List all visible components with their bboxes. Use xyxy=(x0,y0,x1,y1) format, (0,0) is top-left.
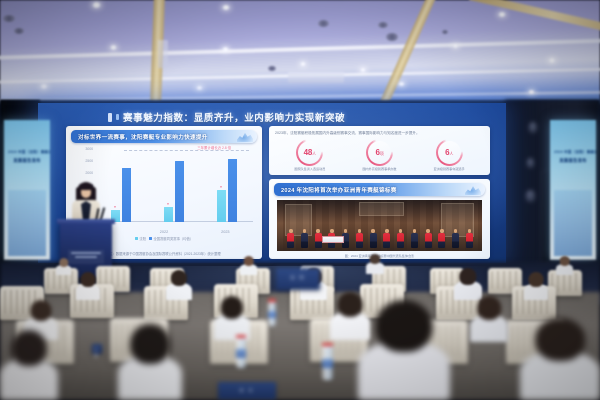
ceiling-downlight-icon xyxy=(452,44,459,48)
stat-ring-value: 48人 xyxy=(304,148,316,157)
chart-bar-group: ▼ xyxy=(111,168,131,222)
ceiling-sensor-icon xyxy=(268,66,276,71)
stat-ring-gauge: 6人 xyxy=(436,139,463,166)
audience-member xyxy=(166,270,192,300)
chart-bar xyxy=(122,168,131,222)
photo-athlete xyxy=(370,229,377,248)
chart-panel-ribbon: 对标世界一流赛事，沈阳赛艇专业影响力快速提升 xyxy=(71,130,257,143)
chart-bar xyxy=(228,159,237,222)
photo-card: 2024 年沈阳将首次举办亚洲青年赛艇锦标赛 图：2024 亚洲青年赛艇锦标赛中… xyxy=(269,179,490,259)
photo-athlete-body xyxy=(301,233,308,248)
ceiling-speaker-icon xyxy=(318,20,329,27)
audience-member-head xyxy=(221,296,243,319)
audience-member-head xyxy=(81,272,96,287)
photo-athlete-head xyxy=(468,229,472,233)
audience-member xyxy=(524,272,548,300)
photo-athlete-body xyxy=(315,233,322,248)
photo-athlete-body xyxy=(383,233,390,248)
audience-member-head xyxy=(59,258,68,267)
photo-athlete xyxy=(356,229,363,248)
stat-ring-gauge: 6项 xyxy=(366,139,393,166)
stat-ring-gauge: 48人 xyxy=(296,139,323,166)
stat-ring-item: 48人国家队集训入选运动员 xyxy=(281,139,339,171)
audience-member-head xyxy=(30,300,51,321)
stat-ring-caption: 国家队集训入选运动员 xyxy=(281,167,339,171)
chart-bar: ▼ xyxy=(164,207,173,222)
stats-lead-text: 2023年，沈阳赛艇积极拓展国内外高级别赛事交流，赛事国际影响力与知名度进一步提… xyxy=(275,131,484,136)
audience-member-head xyxy=(535,318,585,361)
audience-member xyxy=(470,296,508,342)
side-banner-left: 2024 中国（沈阳）赛艇运动 发展报告发布 xyxy=(4,120,50,260)
water-bottle-cap xyxy=(236,335,246,338)
photo-athlete xyxy=(466,229,473,248)
audience-member-head xyxy=(171,270,187,286)
stat-ring-caption: 国内外高级别赛事承办数 xyxy=(350,167,408,171)
name-placard-text: 王 强 xyxy=(92,347,102,359)
ceiling-downlight-icon xyxy=(196,86,203,90)
audience-member xyxy=(56,258,71,275)
chart-bar: ▼ xyxy=(217,190,226,222)
ceiling-speaker-icon xyxy=(378,22,388,28)
photo-athlete xyxy=(287,229,294,248)
photo-athlete xyxy=(315,229,322,248)
chart-bar-marker: ▼ xyxy=(114,205,117,209)
side-banner-right-graphic xyxy=(554,190,592,256)
ceiling-downlight-icon xyxy=(110,45,117,50)
audience-member-head xyxy=(11,330,47,366)
photo-athlete-body xyxy=(466,233,473,248)
photo-athlete-body xyxy=(370,233,377,248)
name-placard: 李 华 xyxy=(218,382,276,400)
audience-member xyxy=(358,300,450,400)
stat-ring-item: 6项国内外高级别赛事承办数 xyxy=(350,139,408,171)
chart-ribbon-label: 对标世界一流赛事，沈阳赛艇专业影响力快速提升 xyxy=(78,133,208,141)
ceiling-gold-beam xyxy=(375,0,438,115)
chart-legend-item: 全国赛艇同类赛事（均值） xyxy=(149,236,193,241)
slide-title: 赛事魅力指数：显质齐升，业内影响力实现新突破 xyxy=(123,110,345,124)
audience-member-head xyxy=(375,300,432,352)
stat-ring-unit: 项 xyxy=(380,151,384,156)
water-bottle xyxy=(268,302,276,326)
side-banner-left-graphic xyxy=(8,190,46,256)
conference-hall-scene: 赛事魅力指数：显质齐升，业内影响力实现新突破 对标世界一流赛事，沈阳赛艇专业影响… xyxy=(0,0,600,400)
audience-member xyxy=(76,272,100,300)
chart-bar xyxy=(175,161,184,222)
audience-member-head xyxy=(529,272,544,287)
podium-signage-line1 xyxy=(71,252,101,254)
ceiling-gold-beam xyxy=(469,0,600,38)
photo-athlete-head xyxy=(289,229,293,233)
water-bottle-cap xyxy=(322,343,333,346)
audience-member-head xyxy=(559,256,570,266)
photo-athlete-head xyxy=(303,229,307,233)
ceiling-speaker-icon xyxy=(386,33,398,41)
slide-panel-right: 2023年，沈阳赛艇积极拓展国内外高级别赛事交流，赛事国际影响力与知名度进一步提… xyxy=(269,126,490,259)
photo-held-banner xyxy=(322,236,344,243)
audience-member xyxy=(0,330,58,400)
decor-vase xyxy=(527,158,534,168)
photo-athlete xyxy=(438,229,445,248)
audience-member-head xyxy=(130,324,170,364)
photo-athlete-head xyxy=(440,229,444,233)
audience-member-head xyxy=(459,268,476,285)
slide-body: 对标世界一流赛事，沈阳赛艇专业影响力快速提升 30002500200015001… xyxy=(66,126,490,259)
chart-y-tick: 3000 xyxy=(72,147,93,151)
stat-rings: 48人国家队集训入选运动员6项国内外高级别赛事承办数6人亚洲级别赛事夺冠选手 xyxy=(275,139,484,171)
photo-panel-ribbon: 2024 年沈阳将首次举办亚洲青年赛艇锦标赛 xyxy=(274,183,485,196)
chart-bar-groups: ▼▼▼ xyxy=(94,149,253,222)
water-bottle-label xyxy=(322,359,333,369)
water-bottle-label xyxy=(268,311,276,318)
name-placard: 王 强 xyxy=(92,344,102,354)
side-banner-right: 2024 中国（沈阳）赛艇运动 发展报告发布 xyxy=(550,120,596,260)
side-banner-left-line2: 发展报告发布 xyxy=(8,158,46,164)
chart-legend-label: 沈阳 xyxy=(139,236,146,241)
ceiling-speaker-icon xyxy=(14,28,24,34)
ceiling-speaker-icon xyxy=(3,15,15,22)
water-bottle xyxy=(236,338,246,368)
name-placard-text: 张 明 xyxy=(276,275,320,281)
audience-member-head xyxy=(477,296,501,320)
water-bottle-label xyxy=(236,349,246,357)
photo-athlete-body xyxy=(397,233,404,248)
side-banner-left-line1: 2024 中国（沈阳）赛艇运动 xyxy=(8,150,46,155)
stat-ring-value: 6项 xyxy=(375,148,383,157)
ceiling-downlight-icon xyxy=(222,5,230,10)
side-banner-right-line1: 2024 中国（沈阳）赛艇运动 xyxy=(554,150,592,155)
chart-bar-group: ▼ xyxy=(217,159,237,222)
ceiling-downlight-icon xyxy=(92,2,101,8)
photo-ribbon-label: 2024 年沈阳将首次举办亚洲青年赛艇锦标赛 xyxy=(281,186,397,194)
ceiling-downlight-icon xyxy=(398,82,405,86)
photo-athlete xyxy=(301,229,308,248)
photo-athlete-body xyxy=(438,233,445,248)
stat-ring-caption: 亚洲级别赛事夺冠选手 xyxy=(420,167,478,171)
ceiling-downlight-icon xyxy=(548,58,556,63)
ceiling-downlight-icon xyxy=(528,90,535,94)
photo-athlete-head xyxy=(385,229,389,233)
ceiling-downlight-icon xyxy=(222,47,229,52)
name-placard-text: 李 华 xyxy=(218,388,276,394)
photo-athlete-body xyxy=(287,233,294,248)
chart-bar-group: ▼ xyxy=(164,161,184,222)
photo-athlete-head xyxy=(358,229,362,233)
photo-stage-panel xyxy=(359,202,404,215)
ceiling xyxy=(0,0,600,104)
water-bottle xyxy=(322,346,333,380)
ceiling-vent xyxy=(158,40,168,68)
ceiling-downlight-icon xyxy=(300,62,306,66)
stat-ring-item: 6人亚洲级别赛事夺冠选手 xyxy=(420,139,478,171)
name-placard: 张 明 xyxy=(276,268,320,290)
chart-y-tick: 2500 xyxy=(72,159,93,163)
chart-x-tick: 2022 xyxy=(160,230,168,234)
chart-plot-area: 三年累计增长近 2.8 倍 ▼▼▼ xyxy=(94,149,253,222)
ceiling-sensor-icon xyxy=(442,30,448,34)
rowing-boat-icon xyxy=(465,184,481,195)
ceiling-downlight-icon xyxy=(360,68,366,72)
team-photo xyxy=(277,200,482,251)
photo-athlete-head xyxy=(413,229,417,233)
stat-ring-unit: 人 xyxy=(449,151,453,156)
audience-member xyxy=(240,256,257,275)
chart-bar-marker: ▼ xyxy=(220,185,223,189)
photo-athlete-head xyxy=(330,229,334,233)
stats-card: 2023年，沈阳赛艇积极拓展国内外高级别赛事交流，赛事国际影响力与知名度进一步提… xyxy=(269,126,490,175)
photo-athlete-head xyxy=(371,229,375,233)
chart-legend-swatch xyxy=(149,237,152,240)
photo-athlete-body xyxy=(425,233,432,248)
chart-legend-item: 沈阳 xyxy=(135,236,146,241)
photo-athlete-head xyxy=(344,229,348,233)
photo-athlete-body xyxy=(356,233,363,248)
side-banner-right-line2: 发展报告发布 xyxy=(554,158,592,164)
stat-ring-value: 6人 xyxy=(445,148,453,157)
photo-athlete-body xyxy=(452,233,459,248)
photo-athlete-head xyxy=(426,229,430,233)
audience-member-shoulders xyxy=(366,262,384,274)
slide-title-row: 赛事魅力指数：显质齐升，业内影响力实现新突破 xyxy=(108,109,498,125)
bullet-dot-icon xyxy=(116,114,119,120)
photo-athlete xyxy=(397,229,404,248)
ceiling-downlight-icon xyxy=(498,12,506,17)
photo-athlete xyxy=(452,229,459,248)
audience-member xyxy=(556,256,573,275)
photo-athlete xyxy=(383,229,390,248)
podium-top-surface xyxy=(57,219,115,224)
bullet-bar-icon xyxy=(108,113,112,122)
ceiling-downlight-icon xyxy=(40,84,48,89)
water-bottle-cap xyxy=(268,299,276,302)
chart-bar-marker: ▼ xyxy=(167,202,170,206)
decor-vase xyxy=(529,122,537,133)
photo-athlete xyxy=(411,229,418,248)
chart-legend-swatch xyxy=(135,237,138,240)
audience-member xyxy=(366,254,384,274)
audience-member xyxy=(520,318,600,400)
audience-member xyxy=(118,324,182,400)
audience-member xyxy=(214,296,250,340)
photo-athlete-head xyxy=(454,229,458,233)
chart-x-tick: 2023 xyxy=(221,230,229,234)
ceiling-vent xyxy=(288,72,344,83)
podium-signage xyxy=(68,250,104,264)
ceiling-band xyxy=(0,38,600,60)
podium-signage-line2 xyxy=(75,256,97,258)
decor-vase xyxy=(526,190,535,202)
chart-y-tick: 2000 xyxy=(72,171,93,175)
stat-ring-unit: 人 xyxy=(312,151,316,156)
photo-athlete xyxy=(425,229,432,248)
photo-athlete-head xyxy=(316,229,320,233)
chart-legend-label: 全国赛艇同类赛事（均值） xyxy=(154,236,194,241)
audience-member-head xyxy=(243,256,254,266)
mountain-emblem-icon xyxy=(237,131,253,142)
photo-athlete-body xyxy=(411,233,418,248)
photo-athlete-head xyxy=(399,229,403,233)
